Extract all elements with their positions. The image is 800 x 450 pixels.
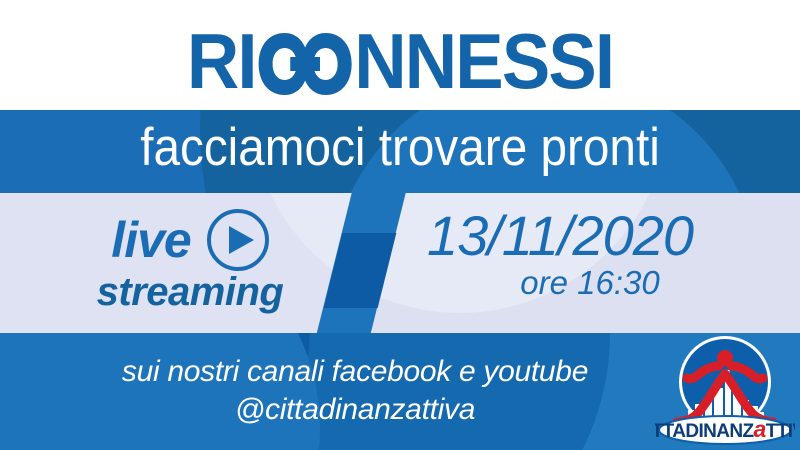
social-channels-line1: sui nostri canali facebook e youtube: [60, 353, 650, 391]
event-datetime-block: 13/11/2020 ore 16:30: [400, 205, 720, 303]
live-label: live: [111, 213, 190, 267]
infinity-connection-icon: [257, 29, 354, 95]
title-prefix: RI: [187, 20, 256, 102]
subtitle-band: facciamoci trovare pronti: [0, 110, 800, 193]
logo-wordmark-part2: TTIVA: [766, 421, 795, 442]
play-icon[interactable]: [207, 209, 269, 271]
event-date: 13/11/2020: [400, 205, 720, 267]
promo-poster: RI NNESSI facciamoci trovare pronti live: [0, 0, 800, 450]
event-time: ore 16:30: [400, 263, 720, 303]
social-channels: sui nostri canali facebook e youtube @ci…: [60, 353, 650, 429]
title-suffix: NNESSI: [354, 20, 613, 102]
live-streaming-block: live streaming: [60, 209, 320, 315]
logo-wordmark-accent: a: [754, 416, 767, 442]
cittadinanzattiva-logo[interactable]: CITTADINANZaTTIVA: [655, 330, 795, 448]
social-handle: @cittadinanzattiva: [60, 391, 650, 429]
page-title: RI NNESSI: [28, 14, 772, 102]
live-row: live: [60, 209, 320, 271]
logo-wordmark-part1: CITTADINANZ: [655, 421, 754, 442]
subtitle: facciamoci trovare pronti: [40, 117, 760, 179]
details-band: live streaming 13/11/2020 ore 16:30: [0, 193, 800, 333]
play-triangle: [229, 226, 254, 254]
streaming-label: streaming: [60, 269, 320, 315]
title-band: RI NNESSI: [0, 0, 800, 110]
